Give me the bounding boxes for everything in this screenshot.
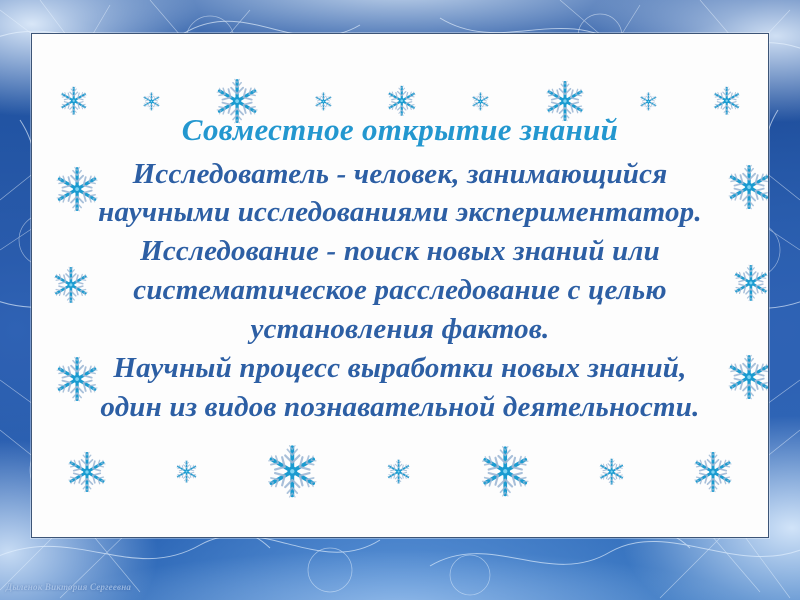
author-credit: Дыленок Виктория Сергеевна — [6, 582, 131, 592]
snowflake-icon — [598, 458, 625, 485]
snowflake-decoration — [598, 458, 625, 485]
snowflake-icon — [314, 92, 333, 111]
bottom-snowflake-row — [32, 444, 768, 499]
body-line: Исследование - поиск новых знаний или — [46, 232, 754, 271]
snowflake-decoration — [142, 92, 161, 111]
content-panel: Совместное открытие знаний Исследователь… — [31, 33, 769, 538]
snowflake-icon — [386, 459, 411, 484]
snowflake-icon — [66, 451, 108, 493]
snowflake-decoration — [471, 92, 490, 111]
snowflake-decoration — [479, 445, 532, 498]
snowflake-icon — [265, 444, 320, 499]
winter-themed-slide: Совместное открытие знаний Исследователь… — [0, 0, 800, 600]
body-line: Исследователь - человек, занимающийся — [46, 155, 754, 194]
snowflake-icon — [142, 92, 161, 111]
body-line: Научный процесс выработки новых знаний, — [46, 349, 754, 388]
body-line: научными исследованиями экспериментатор. — [46, 193, 754, 232]
snowflake-decoration — [66, 451, 108, 493]
snowflake-decoration — [639, 92, 658, 111]
snowflake-icon — [692, 451, 734, 493]
snowflake-decoration — [692, 451, 734, 493]
slide-title: Совместное открытие знаний — [46, 112, 754, 149]
snowflake-decoration — [314, 92, 333, 111]
snowflake-icon — [175, 460, 198, 483]
snowflake-decoration — [175, 460, 198, 483]
snowflake-icon — [639, 92, 658, 111]
body-line: установления фактов. — [46, 310, 754, 349]
snowflake-icon — [479, 445, 532, 498]
snowflake-decoration — [265, 444, 320, 499]
body-line: один из видов познавательной деятельност… — [46, 388, 754, 427]
snowflake-decoration — [386, 459, 411, 484]
slide-body: Исследователь - человек, занимающийсянау… — [46, 155, 754, 427]
snowflake-icon — [471, 92, 490, 111]
slide-text-block: Совместное открытие знаний Исследователь… — [32, 112, 768, 427]
body-line: систематическое расследование с целью — [46, 271, 754, 310]
